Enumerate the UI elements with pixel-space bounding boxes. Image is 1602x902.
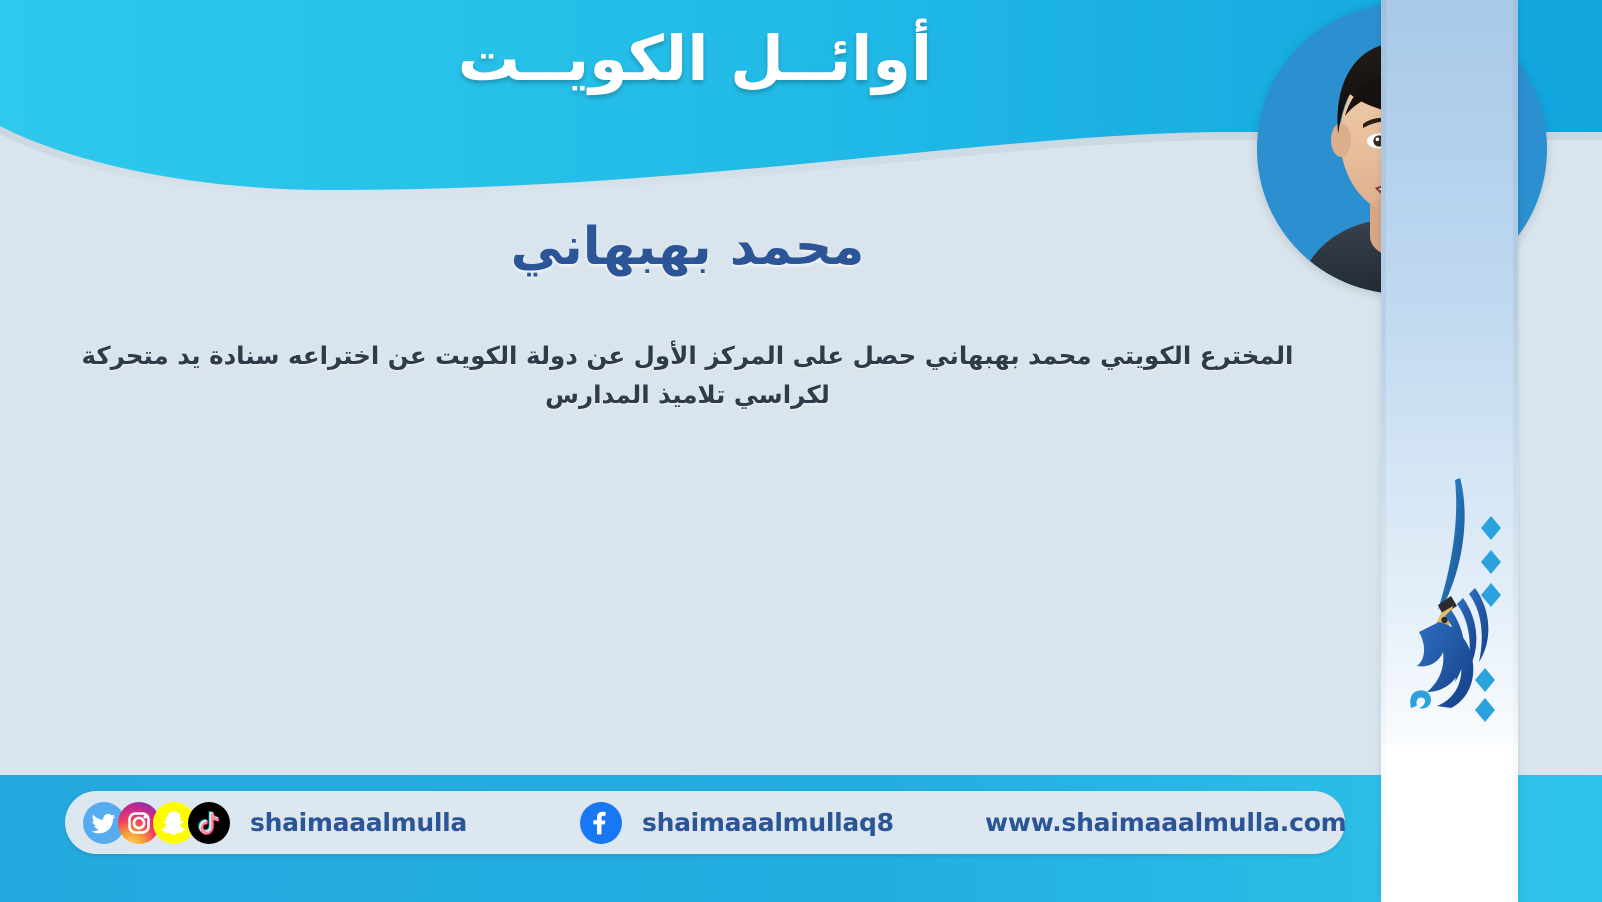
tiktok-icon[interactable] — [188, 802, 230, 844]
facebook-handle-label[interactable]: shaimaaalmullaq8 — [642, 808, 894, 837]
person-description: المخترع الكويتي محمد بهبهاني حصل على الم… — [0, 278, 1375, 415]
website-group: www.shaimaaalmulla.com — [985, 791, 1347, 854]
website-link[interactable]: www.shaimaaalmulla.com — [985, 808, 1347, 837]
poster-canvas: أوائــل الكويــت — [0, 0, 1602, 902]
social-icon-row — [83, 802, 230, 844]
facebook-handle-group: shaimaaalmullaq8 — [580, 791, 894, 854]
facebook-icon[interactable] — [580, 802, 622, 844]
person-name: محمد بهبهاني — [0, 190, 1375, 278]
logo-panel-base — [1381, 745, 1518, 902]
logo-artwork — [1381, 470, 1518, 745]
calligraphy-pen-logo-icon — [1381, 470, 1518, 745]
logo-panel-edge-right — [1513, 0, 1518, 902]
main-content: محمد بهبهاني المخترع الكويتي محمد بهبهان… — [0, 190, 1375, 750]
footer-bar: shaimaaalmulla shaimaaalmullaq8 www.shai… — [0, 775, 1602, 902]
social-handles-group: shaimaaalmulla — [83, 791, 467, 854]
logo-panel-edge-left — [1381, 0, 1386, 902]
page-title: أوائــل الكويــت — [0, 26, 1390, 91]
contact-pill: shaimaaalmulla shaimaaalmullaq8 www.shai… — [65, 791, 1345, 854]
social-handle-label[interactable]: shaimaaalmulla — [250, 808, 467, 837]
